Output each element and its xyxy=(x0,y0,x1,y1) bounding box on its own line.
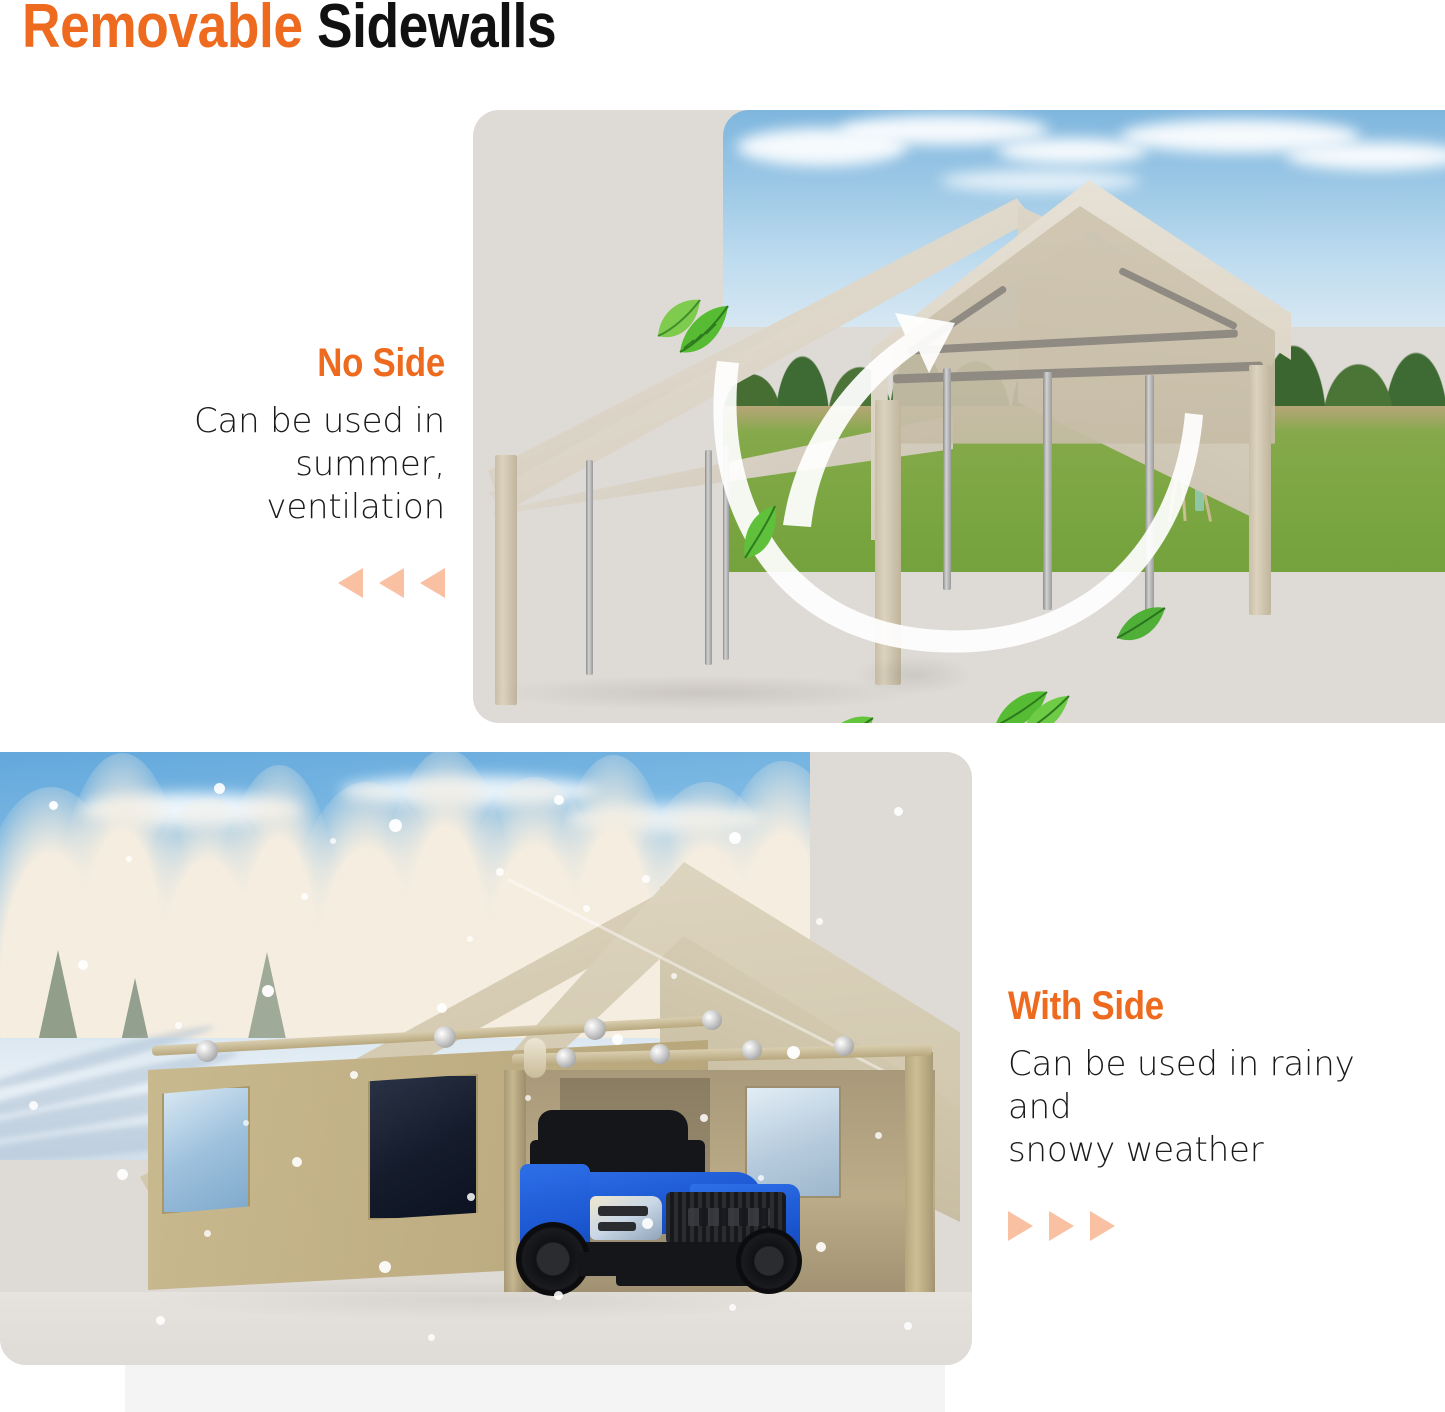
blue-pickup-truck xyxy=(520,1110,880,1305)
page-title: Removable Sidewalls xyxy=(22,0,556,58)
truck-headlight xyxy=(590,1196,662,1240)
title-word-removable: Removable xyxy=(22,0,303,61)
carport-front-right-post xyxy=(905,1052,933,1302)
arrow-right-triangle-icon xyxy=(1008,1211,1033,1241)
open-carport-illustration xyxy=(473,110,1445,723)
leaf-icon xyxy=(650,290,730,360)
with-side-scene-panel xyxy=(0,752,972,1365)
rail-fitting xyxy=(584,1018,606,1040)
sidewall-window xyxy=(162,1086,250,1214)
carport-far-post xyxy=(1249,365,1271,615)
rail-fitting xyxy=(556,1048,576,1068)
with-side-text-block: With Side Can be used in rainy and snowy… xyxy=(1008,985,1428,1241)
rail-fitting xyxy=(702,1010,722,1030)
enclosed-carport-illustration xyxy=(0,752,972,1365)
arrow-right-triangle-icon xyxy=(1090,1211,1115,1241)
arrow-left-triangle-icon xyxy=(420,568,445,598)
truck-rear-wheel xyxy=(736,1228,802,1294)
rolled-sidewall-bundle xyxy=(524,1038,546,1078)
with-side-kicker: With Side xyxy=(1008,985,1373,1027)
with-side-body: Can be used in rainy and snowy weather xyxy=(1008,1043,1428,1171)
carport-front-post xyxy=(875,400,901,685)
rail-fitting xyxy=(742,1040,762,1060)
title-word-sidewalls: Sidewalls xyxy=(317,0,556,61)
no-side-text-block: No Side Can be used in summer, ventilati… xyxy=(40,342,445,598)
no-side-body: Can be used in summer, ventilation xyxy=(40,400,445,528)
leaf-icon xyxy=(815,710,877,723)
rail-fitting xyxy=(196,1040,218,1062)
truck-brand-lettering xyxy=(688,1208,770,1226)
no-side-arrow-group xyxy=(40,568,445,598)
sidewall-window xyxy=(368,1074,478,1220)
leaf-icon xyxy=(991,682,1071,723)
no-side-scene-panel xyxy=(473,110,1445,723)
arrow-right-triangle-icon xyxy=(1049,1211,1074,1241)
arrow-left-triangle-icon xyxy=(338,568,363,598)
arrow-left-triangle-icon xyxy=(379,568,404,598)
no-side-kicker: No Side xyxy=(93,342,445,384)
rail-fitting xyxy=(834,1036,854,1056)
leaf-icon xyxy=(1113,600,1169,648)
with-side-arrow-group xyxy=(1008,1211,1428,1241)
rail-fitting xyxy=(434,1026,456,1048)
leaf-icon xyxy=(735,502,783,564)
rail-fitting xyxy=(650,1044,670,1064)
